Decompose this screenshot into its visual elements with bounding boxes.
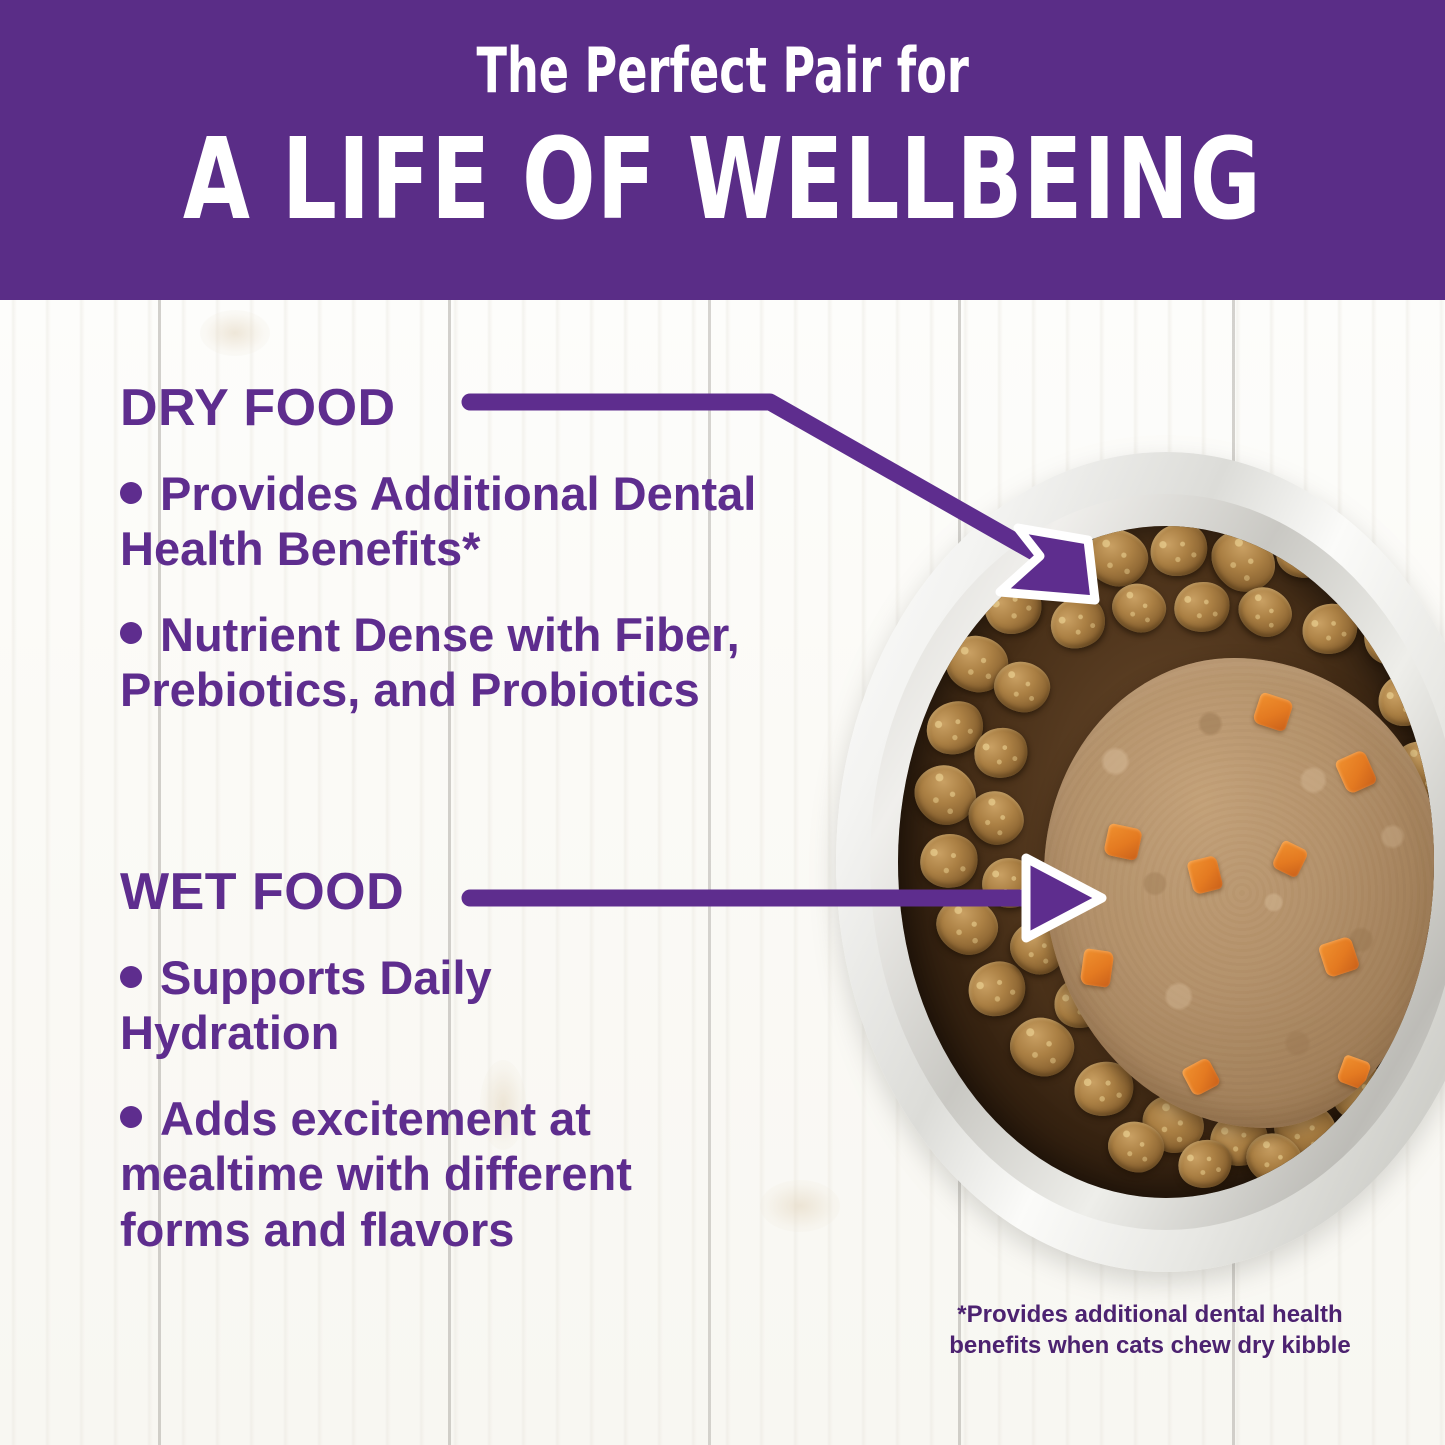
kibble-piece [1041, 587, 1114, 658]
infographic-root: The Perfect Pair for A LIFE OF WELLBEING… [0, 0, 1445, 1445]
bullet-list-dry-food: Provides Additional Dental Health Benefi… [120, 466, 760, 718]
carrot-piece [1103, 823, 1143, 861]
section-heading-dry-food: DRY FOOD [120, 378, 760, 438]
wood-knot [200, 310, 270, 356]
food-bowl-photo [836, 452, 1445, 1272]
section-wet-food: WET FOOD Supports Daily Hydration Adds e… [120, 862, 640, 1287]
bowl-interior [898, 526, 1434, 1198]
pate-texture [1044, 658, 1434, 1128]
kibble-piece [1142, 526, 1215, 585]
kibble-piece [915, 829, 983, 894]
section-dry-food: DRY FOOD Provides Additional Dental Heal… [120, 378, 760, 748]
bullet-text: Provides Additional Dental Health Benefi… [120, 467, 756, 575]
section-heading-wet-food: WET FOOD [120, 862, 640, 922]
footnote-text: *Provides additional dental health benef… [930, 1300, 1370, 1361]
wet-food-pate [1044, 658, 1434, 1128]
bullet-text: Nutrient Dense with Fiber, Prebiotics, a… [120, 608, 740, 716]
banner-subtitle: The Perfect Pair for [476, 40, 968, 102]
bullet-item: Supports Daily Hydration [120, 950, 620, 1061]
bullet-item: Adds excitement at mealtime with differe… [120, 1091, 640, 1257]
bullet-item: Nutrient Dense with Fiber, Prebiotics, a… [120, 607, 760, 718]
bullet-text: Adds excitement at mealtime with differe… [120, 1092, 632, 1256]
bullet-dot-icon [120, 1106, 142, 1128]
header-banner: The Perfect Pair for A LIFE OF WELLBEING [0, 0, 1445, 300]
bullet-dot-icon [120, 966, 142, 988]
kibble-piece [980, 855, 1039, 910]
bullet-list-wet-food: Supports Daily Hydration Adds excitement… [120, 950, 640, 1257]
bullet-dot-icon [120, 622, 142, 644]
bullet-item: Provides Additional Dental Health Benefi… [120, 466, 760, 577]
wood-knot [760, 1180, 840, 1232]
bullet-dot-icon [120, 482, 142, 504]
banner-title: A LIFE OF WELLBEING [183, 124, 1262, 236]
carrot-piece [1080, 948, 1115, 988]
bullet-text: Supports Daily Hydration [120, 951, 492, 1059]
kibble-piece [1169, 577, 1234, 638]
